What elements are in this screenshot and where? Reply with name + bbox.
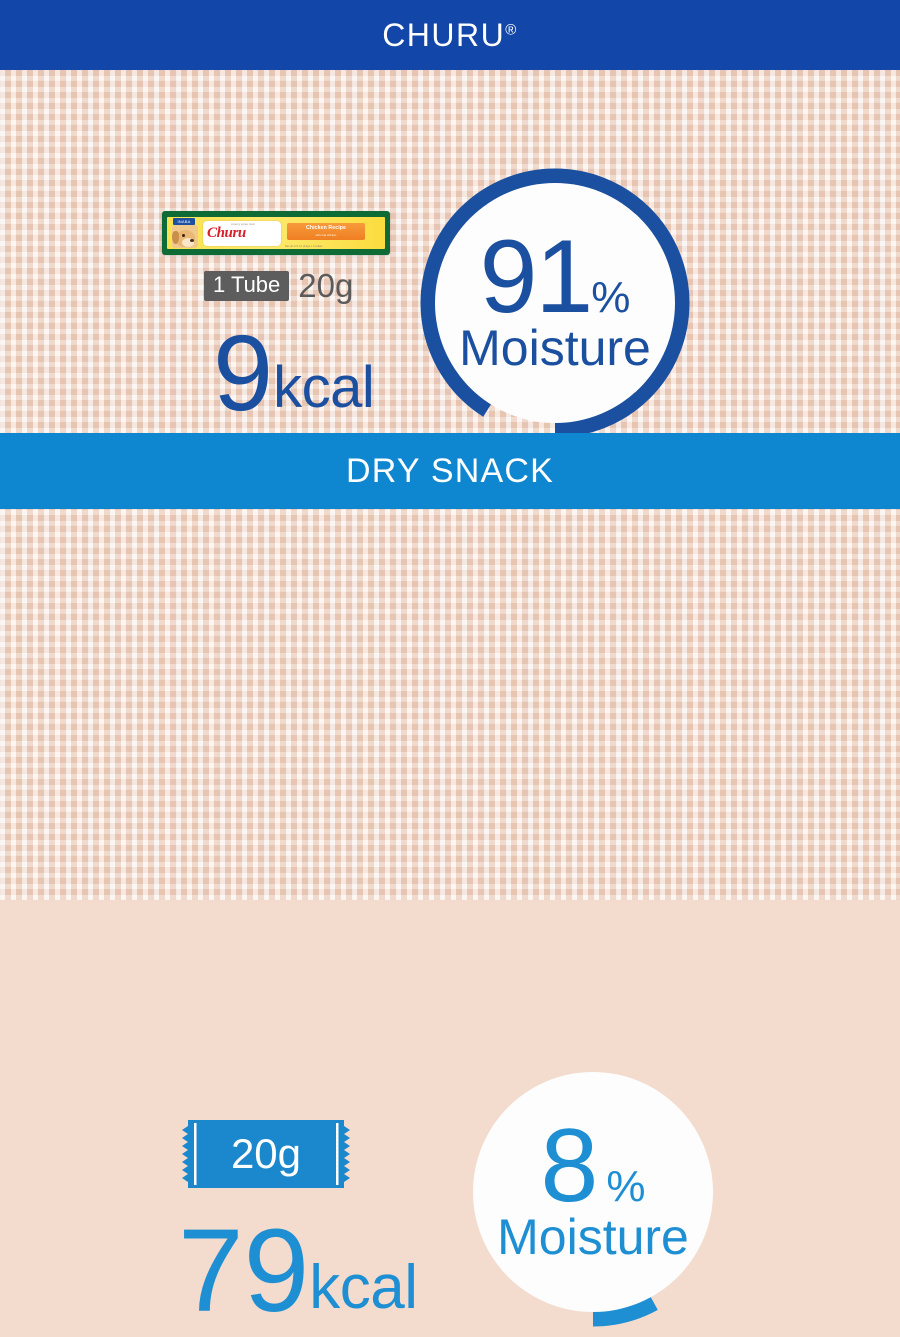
brand-name: CHURU (382, 17, 505, 53)
product-label: creamy puree treat Churu (203, 221, 281, 246)
serving-count-badge: 1 Tube (204, 271, 289, 301)
dog-icon (172, 225, 198, 248)
wet-moisture-value: 91 (480, 231, 592, 323)
dry-snack-title: DRY SNACK (346, 452, 554, 491)
wet-moisture-label: Moisture (459, 321, 651, 375)
recipe-panel: Chicken Recipe with real chicken (287, 223, 365, 240)
page-header: CHURU® (0, 0, 900, 70)
dry-donut-center-text: 8 % Moisture (458, 1057, 728, 1327)
churu-tube-package: INABA creamy puree treat Churu Chicken R… (162, 211, 390, 255)
snack-wrapper-package: 20g (172, 1112, 360, 1195)
dry-snack-band: DRY SNACK (0, 433, 900, 509)
dry-moisture-label: Moisture (497, 1210, 689, 1264)
tube-face: INABA creamy puree treat Churu Chicken R… (167, 217, 385, 249)
dry-serving-weight: 20g (172, 1112, 360, 1195)
serving-weight: 20g (298, 269, 353, 302)
wet-moisture-donut-chart: 91 % Moisture (420, 168, 690, 438)
dry-calorie-value: 79 (178, 1219, 309, 1323)
wet-percent-symbol: % (591, 276, 630, 320)
dry-moisture-donut-chart: 8 % Moisture (458, 1057, 728, 1327)
recipe-name: Chicken Recipe (287, 223, 365, 233)
dry-calorie-readout: 79 kcal (178, 1219, 418, 1323)
dry-snack-section: 20g 79 kcal 8 % Moisture (0, 509, 900, 900)
recipe-subtitle: with real chicken (287, 233, 365, 237)
wet-calorie-readout: 9 kcal (213, 325, 374, 421)
trademark-mark: ® (505, 21, 518, 38)
maker-logo-icon: INABA (173, 218, 195, 225)
dry-calorie-unit: kcal (309, 1257, 417, 1323)
serving-size-row: 1 Tube 20g (204, 269, 353, 302)
wet-treat-section: INABA creamy puree treat Churu Chicken R… (0, 70, 900, 433)
wet-calorie-value: 9 (213, 325, 273, 421)
brand-title: CHURU® (382, 19, 518, 51)
package-fine-print: Net wt 0.5 oz (14g) x 4 tubes (285, 245, 323, 248)
wet-donut-center-text: 91 % Moisture (420, 168, 690, 438)
wet-calorie-unit: kcal (273, 359, 374, 421)
dry-percent-symbol: % (606, 1165, 645, 1209)
churu-logo: Churu (207, 225, 278, 241)
dry-moisture-value: 8 (541, 1120, 599, 1212)
